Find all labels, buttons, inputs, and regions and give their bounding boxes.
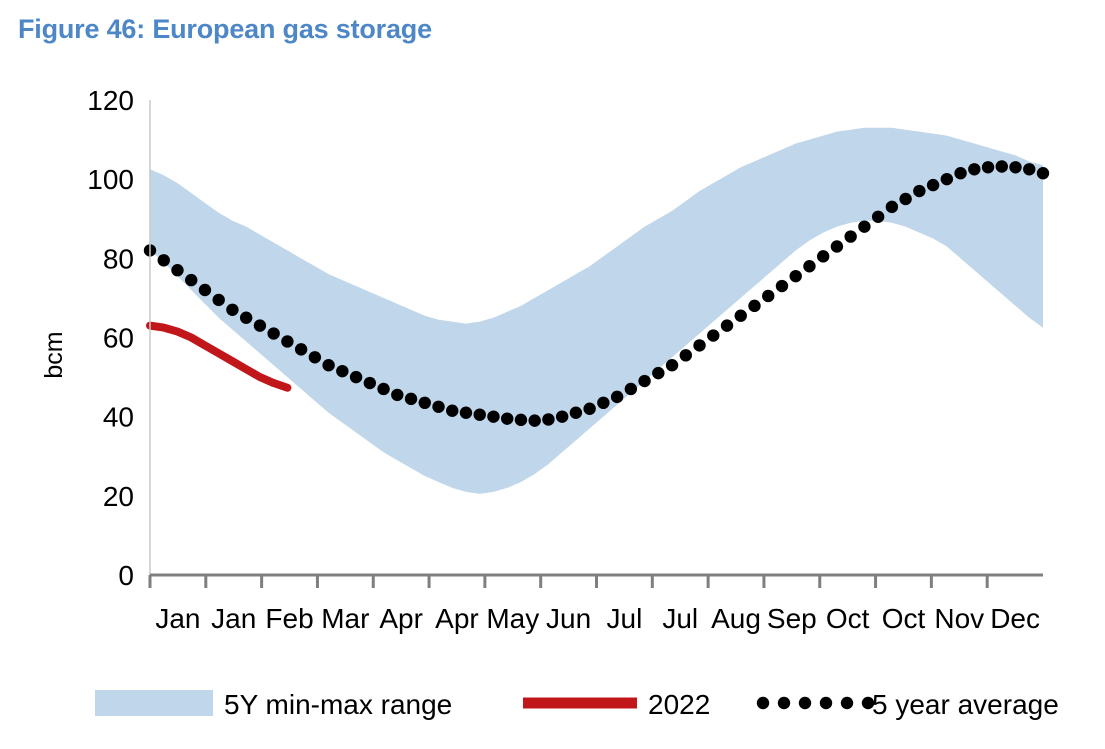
average-point [212,294,224,306]
chart-legend: 5Y min-max range 2022 5 year average [95,689,1059,720]
average-point [790,270,802,282]
x-tick-label: Jan [155,603,200,634]
legend-swatch-range-band [95,690,213,716]
average-point [693,339,705,351]
y-axis-label: bcm [40,331,68,378]
average-point [748,300,760,312]
figure-container: Figure 46: European gas storage 02040608… [0,0,1105,749]
average-point [858,220,870,232]
average-point [515,414,527,426]
average-point [680,349,692,361]
average-point [405,393,417,405]
average-point [803,260,815,272]
average-point [982,161,994,173]
average-point [817,250,829,262]
average-point [542,413,554,425]
legend-dot [820,697,832,709]
y-tick-label: 60 [103,323,134,354]
legend-dot [841,697,853,709]
average-point [638,375,650,387]
legend-dot [799,697,811,709]
x-axis-tick-labels: JanJanFebMarAprAprMayJunJulJulAugSepOctO… [155,603,1040,634]
average-point [322,359,334,371]
average-point [226,304,238,316]
average-point [309,351,321,363]
average-point [611,391,623,403]
legend-swatch-average-dots [757,697,874,709]
average-point [831,240,843,252]
average-point [281,335,293,347]
average-point [625,383,637,395]
y-tick-label: 100 [87,164,134,195]
y-tick-label: 20 [103,481,134,512]
average-point [158,254,170,266]
x-tick-label: Nov [934,603,984,634]
average-point [652,367,664,379]
x-tick-label: Oct [826,603,870,634]
gas-storage-chart: 020406080100120 JanJanFebMarAprAprMayJun… [0,0,1105,749]
average-point [1009,161,1021,173]
x-tick-label: May [486,603,539,634]
x-tick-label: Jul [662,603,698,634]
average-point [432,401,444,413]
legend-label-2022: 2022 [648,689,710,720]
x-tick-label: Feb [265,603,313,634]
average-point [570,407,582,419]
average-point [666,359,678,371]
x-tick-label: Sep [767,603,817,634]
legend-label-range-band: 5Y min-max range [224,689,452,720]
average-point [583,403,595,415]
average-point [721,319,733,331]
average-point [185,274,197,286]
average-point [941,173,953,185]
average-point [199,284,211,296]
y-tick-label: 0 [118,560,134,591]
average-point [927,179,939,191]
x-tick-label: Dec [990,603,1040,634]
y-tick-label: 80 [103,243,134,274]
x-tick-label: Apr [435,603,479,634]
average-point [886,201,898,213]
y-tick-label: 120 [87,85,134,116]
average-point [762,290,774,302]
average-point [1023,163,1035,175]
average-point [872,211,884,223]
average-point [364,377,376,389]
average-point [556,410,568,422]
average-point [446,405,458,417]
y-tick-label: 40 [103,402,134,433]
average-point [597,397,609,409]
average-point [899,193,911,205]
average-point [996,160,1008,172]
average-point [267,327,279,339]
average-point [460,407,472,419]
average-point [968,163,980,175]
legend-label-five-year-average: 5 year average [872,689,1059,720]
x-tick-label: Mar [321,603,369,634]
average-point [377,383,389,395]
x-tick-label: Jul [607,603,643,634]
average-point [350,371,362,383]
x-tick-label: Aug [711,603,761,634]
legend-dot [757,697,769,709]
x-tick-label: Jan [211,603,256,634]
average-point [707,329,719,341]
average-point [776,280,788,292]
x-tick-label: Oct [882,603,926,634]
average-point [487,410,499,422]
x-tick-label: Apr [379,603,423,634]
average-point [391,389,403,401]
average-point [1037,167,1049,179]
y-axis-tick-labels: 020406080100120 [87,85,134,591]
range-band-area [150,128,1043,494]
average-point [240,312,252,324]
average-point [419,397,431,409]
legend-dot [778,697,790,709]
average-point [295,343,307,355]
average-point [171,264,183,276]
average-point [254,319,266,331]
average-point [954,167,966,179]
average-point [501,412,513,424]
average-point [474,408,486,420]
average-point [844,230,856,242]
average-point [735,310,747,322]
x-tick-label: Jun [546,603,591,634]
average-point [913,185,925,197]
average-point [528,414,540,426]
average-point [336,365,348,377]
x-axis-ticks [150,575,987,588]
